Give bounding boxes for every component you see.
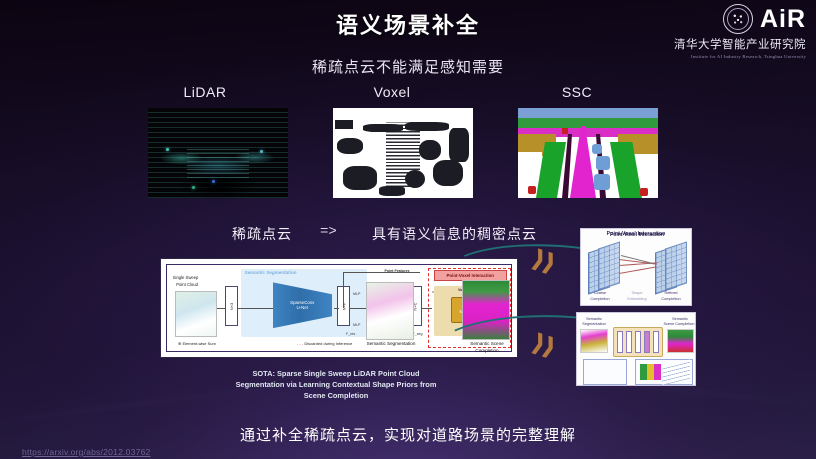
coarse-completion-label-a: Coarse (585, 291, 615, 295)
semantic-segmentation-region-label: Semantic Segmentation (245, 270, 297, 275)
air-logo: AiR 清华大学智能产业研究院 Institute for AI Industr… (654, 4, 806, 58)
sample-image-lidar (148, 108, 288, 198)
backbone-label-line2: U-Net (290, 305, 314, 310)
semantic-scene-completion-thumbnail (462, 280, 510, 340)
transform-arrow-glyph: => (320, 224, 337, 240)
coarse-completion-grid-back (598, 241, 620, 290)
sample-label-voxel: Voxel (337, 84, 447, 100)
page-subtitle: 稀疏点云不能满足感知需要 (0, 56, 816, 77)
coarse-completion-label-b: Completion (583, 297, 617, 301)
point-voxel-interaction-figure-title: Point-Voxel Interaction (604, 232, 670, 238)
right-figure-point-voxel-interaction: Point-Voxel Interaction Coarse Completio… (580, 228, 692, 306)
tensor-box-nxf: N×F (337, 286, 350, 326)
input-point-cloud-thumbnail (175, 291, 217, 337)
ssc-net-detail-left (583, 359, 627, 385)
slide-root: 语义场景补全 稀疏点云不能满足感知需要 AiR 清华大学智能产业研究院 Inst… (0, 0, 816, 459)
legend-sum-label: Element-wise Sum (182, 341, 215, 346)
light-sweep-decoration (90, 222, 330, 236)
logo-air-text: AiR (760, 7, 806, 32)
figure-caption-line3: Scene Completion (196, 390, 476, 401)
ssc-net-block-container (613, 327, 663, 357)
shape-embedding-label-b: Embedding (619, 297, 655, 301)
source-link[interactable]: https://arxiv.org/abs/2012.03762 (22, 447, 151, 457)
right-figure-ssc-network: Semantic Segmentation Semantic Scene Com… (576, 312, 696, 386)
ssc-net-input-thumbnail (580, 329, 608, 353)
sample-image-voxel (333, 108, 473, 198)
shape-embedding-label-a: Shape (621, 291, 653, 295)
figure-caption-line1: SOTA: Sparse Single Sweep LiDAR Point Cl… (196, 368, 476, 379)
semantic-segmentation-thumbnail (366, 282, 414, 340)
logo-english-name: Institute for AI Industry Research, Tsin… (654, 54, 806, 59)
bottom-statement: 通过补全稀疏点云，实现对道路场景的完整理解 (0, 424, 816, 445)
logo-mark-row: AiR (654, 4, 806, 34)
input-label-line1: Single Sweep (173, 275, 199, 280)
fseg-label: F_seg (413, 332, 423, 336)
figure-caption-line2: Segmentation via Learning Contextual Sha… (196, 379, 476, 390)
ssc-net-detail-right (635, 359, 693, 385)
tensor-box-nx3: N×3 (225, 286, 238, 326)
ssc-net-left-label-b: Segmentation (577, 322, 611, 326)
legend-dashed-icon: - - - (297, 341, 303, 346)
mlp-label-top: MLP (353, 292, 360, 296)
refined-completion-grid-back (665, 241, 687, 290)
ssc-net-right-label-a: Semantic (665, 317, 695, 321)
refined-completion-label-b: Completion (653, 297, 689, 301)
transform-right-label: 具有语义信息的稠密点云 (372, 224, 537, 244)
semantic-segmentation-thumbnail-caption: Semantic Segmentation (365, 341, 417, 346)
figure-caption: SOTA: Sparse Single Sweep LiDAR Point Cl… (196, 368, 476, 401)
ssc-net-right-label-b: Scene Completion (661, 322, 697, 326)
fres-label: F_res (346, 332, 355, 336)
ssc-net-left-label-a: Semantic (579, 317, 609, 321)
legend-dashed-label: Discarded during Inference (304, 341, 352, 346)
input-label-line2: Point Cloud (176, 282, 198, 287)
legend-sum-icon: ⊕ (178, 341, 181, 346)
mlp-label-bottom: MLP (353, 323, 360, 327)
chevron-arrow-top-icon (531, 248, 564, 278)
transform-left-label: 稀疏点云 (232, 224, 292, 244)
scene-completion-caption-line2: Completion (458, 348, 516, 353)
chevron-arrow-bottom-icon (531, 332, 564, 362)
sample-label-lidar: LiDAR (150, 84, 260, 100)
logo-chinese-name: 清华大学智能产业研究院 (654, 36, 806, 52)
sample-label-ssc: SSC (522, 84, 632, 100)
scene-completion-caption-line1: Semantic Scene (458, 341, 516, 346)
ssc-net-output-thumbnail (667, 329, 694, 353)
refined-completion-label-a: Refined (655, 291, 687, 295)
tensor-box-nx3-label: N×3 (229, 302, 234, 309)
sample-image-ssc (518, 108, 658, 198)
tsinghua-seal-icon (723, 4, 753, 34)
